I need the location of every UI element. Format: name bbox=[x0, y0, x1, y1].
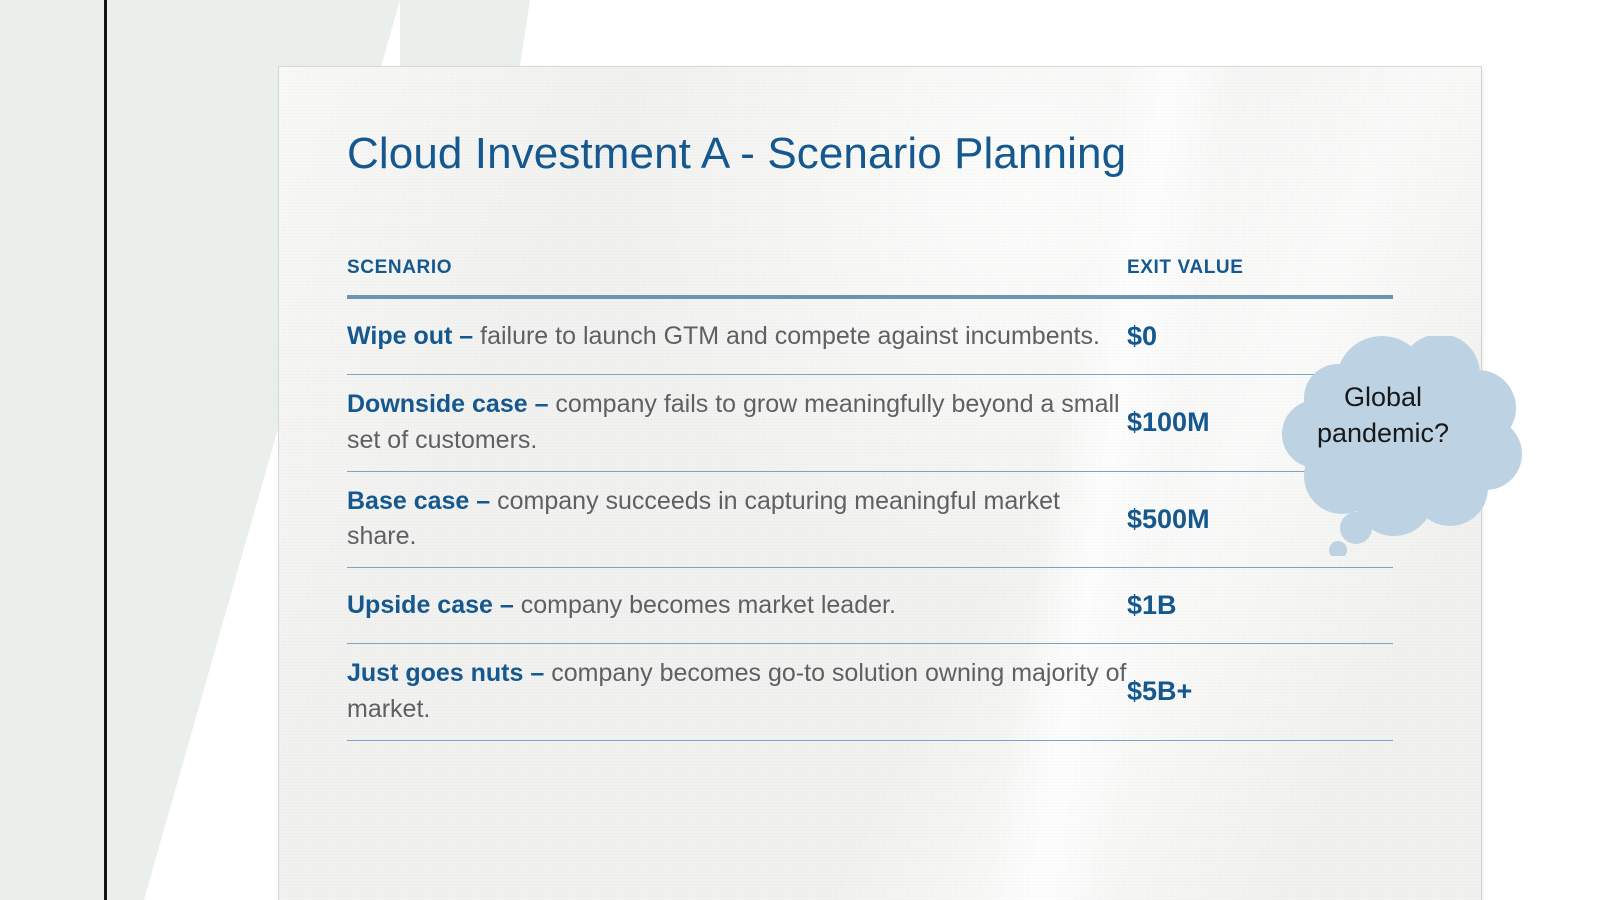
cell-exit-value: $5B+ bbox=[1127, 664, 1393, 719]
scenario-label: Just goes nuts – bbox=[347, 659, 544, 687]
thought-bubble-text: Global pandemic? bbox=[1264, 380, 1502, 451]
cell-scenario: Just goes nuts – company becomes go-to s… bbox=[347, 644, 1127, 740]
column-header-exit-value: EXIT VALUE bbox=[1127, 257, 1393, 279]
cell-scenario: Downside case – company fails to grow me… bbox=[347, 375, 1127, 471]
slide-canvas: Cloud Investment A - Scenario Planning S… bbox=[0, 0, 1600, 900]
column-header-scenario: SCENARIO bbox=[347, 257, 1127, 279]
scenario-label: Upside case – bbox=[347, 591, 514, 619]
thought-bubble-annotation: Global pandemic? bbox=[1264, 336, 1526, 556]
cell-scenario: Base case – company succeeds in capturin… bbox=[347, 472, 1127, 568]
table-row: Upside case – company becomes market lea… bbox=[347, 568, 1393, 644]
scenario-description: Just goes nuts – company becomes go-to s… bbox=[347, 656, 1127, 728]
table-row: Base case – company succeeds in capturin… bbox=[347, 472, 1393, 569]
scenario-description: Wipe out – failure to launch GTM and com… bbox=[347, 319, 1127, 355]
exit-value: $5B+ bbox=[1127, 676, 1393, 707]
scenario-description: Upside case – company becomes market lea… bbox=[347, 588, 1127, 624]
page-title: Cloud Investment A - Scenario Planning bbox=[347, 129, 1126, 179]
scenario-description: Base case – company succeeds in capturin… bbox=[347, 484, 1127, 556]
bubble-line-1: Global bbox=[1264, 380, 1502, 416]
table-row: Wipe out – failure to launch GTM and com… bbox=[347, 299, 1393, 375]
cell-scenario: Wipe out – failure to launch GTM and com… bbox=[347, 307, 1127, 367]
vertical-rule-divider bbox=[104, 0, 107, 900]
scenario-label: Base case – bbox=[347, 487, 490, 515]
exit-value: $1B bbox=[1127, 590, 1393, 621]
scenario-detail: failure to launch GTM and compete agains… bbox=[473, 322, 1100, 350]
table-row: Just goes nuts – company becomes go-to s… bbox=[347, 644, 1393, 741]
scenario-detail: company becomes market leader. bbox=[514, 591, 896, 619]
table-header-row: SCENARIO EXIT VALUE bbox=[347, 257, 1393, 299]
scenario-label: Wipe out – bbox=[347, 322, 473, 350]
scenario-description: Downside case – company fails to grow me… bbox=[347, 387, 1127, 459]
cell-exit-value: $1B bbox=[1127, 578, 1393, 633]
cell-scenario: Upside case – company becomes market lea… bbox=[347, 576, 1127, 636]
scenario-table: SCENARIO EXIT VALUE Wipe out – failure t… bbox=[347, 257, 1393, 741]
table-row: Downside case – company fails to grow me… bbox=[347, 375, 1393, 472]
bubble-line-2: pandemic? bbox=[1264, 416, 1502, 452]
scenario-label: Downside case – bbox=[347, 390, 548, 418]
